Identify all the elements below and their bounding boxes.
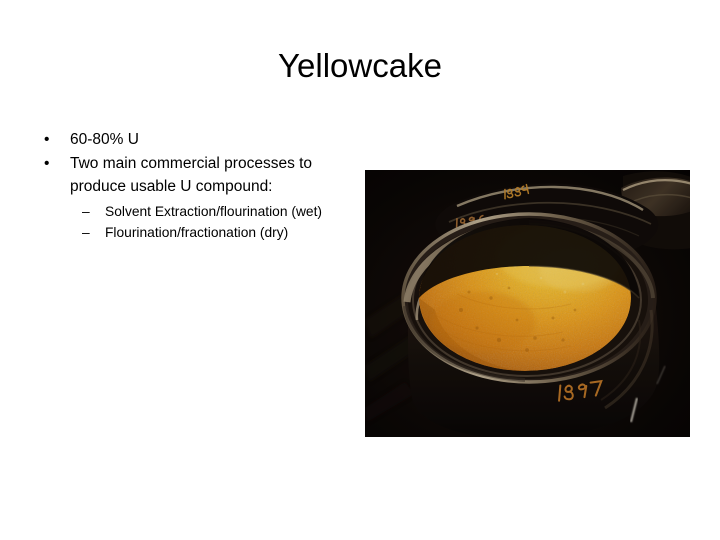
list-item-label: Two main commercial processes to produce…	[70, 155, 312, 195]
bullet-marker-icon: •	[44, 128, 49, 151]
list-item-label: 60-80% U	[70, 131, 139, 148]
bullet-marker-icon: •	[44, 152, 49, 175]
yellowcake-photo	[365, 170, 690, 437]
slide-body-text: • 60-80% U • Two main commercial process…	[36, 128, 356, 243]
list-item: – Flourination/fractionation (dry)	[36, 223, 356, 244]
slide-canvas: Yellowcake • 60-80% U • Two main commerc…	[0, 0, 720, 540]
list-item-label: Flourination/fractionation (dry)	[105, 225, 288, 240]
dash-marker-icon: –	[82, 202, 90, 223]
sub-list: – Solvent Extraction/flourination (wet) …	[36, 202, 356, 243]
yellowcake-photo-illustration	[365, 170, 690, 437]
list-item: – Solvent Extraction/flourination (wet)	[36, 202, 356, 223]
page-title: Yellowcake	[40, 46, 680, 86]
dash-marker-icon: –	[82, 223, 90, 244]
list-item: • Two main commercial processes to produ…	[36, 152, 356, 198]
list-item-label: Solvent Extraction/flourination (wet)	[105, 204, 322, 219]
list-item: • 60-80% U	[36, 128, 356, 151]
